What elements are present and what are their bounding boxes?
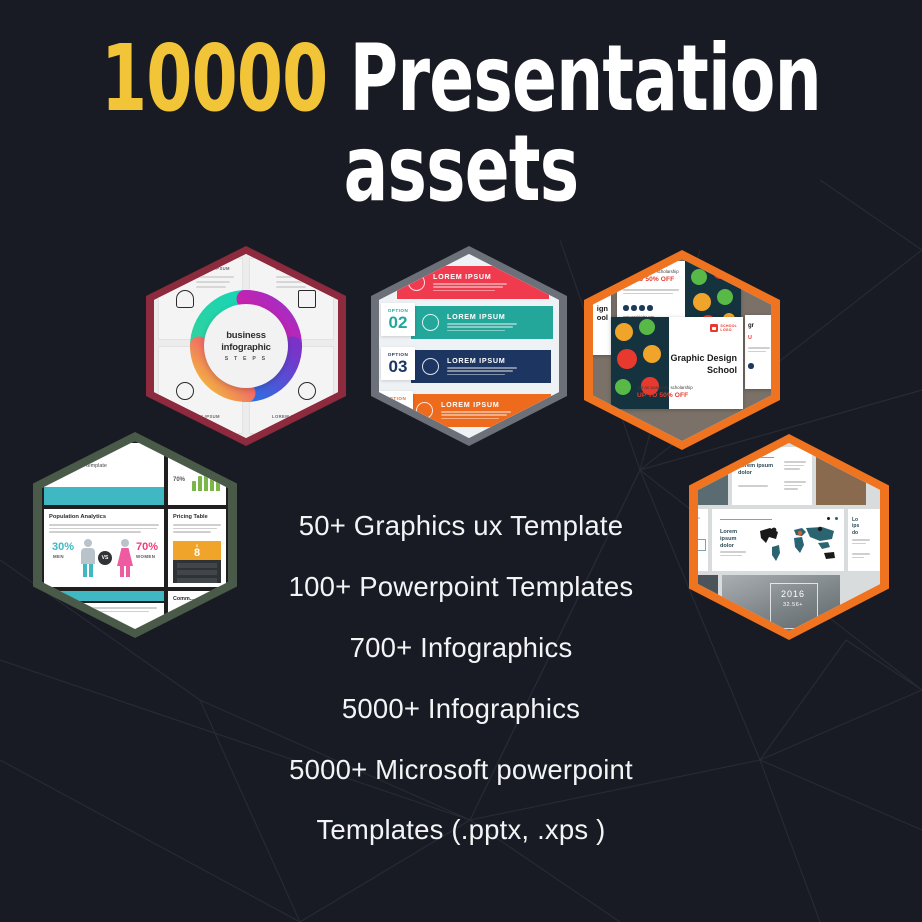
social-icon (623, 305, 629, 311)
hex2-border: LOREM IPSUM LOREM IPSUM OPTION (371, 246, 567, 446)
page-title: 10000 Presentation assets (92, 34, 830, 214)
feature-item-4: 5000+ Microsoft powerpoint (0, 756, 922, 785)
hexagon-business-infographic[interactable]: LOREM IPSUM LOREM IPSUM LOREM IPSUM LORE… (146, 246, 346, 446)
option-box-2: OPTION 02 (381, 303, 415, 336)
flyer-title-line2: School (641, 365, 737, 375)
feature-item-0: 50+ Graphics ux Template (0, 512, 922, 541)
flyer-title-line1: Graphic Design (641, 353, 737, 363)
slide-top-left-photo (698, 447, 728, 505)
hex1-artwork: LOREM IPSUM LOREM IPSUM LOREM IPSUM LORE… (154, 254, 338, 438)
hex1-content: LOREM IPSUM LOREM IPSUM LOREM IPSUM LORE… (154, 254, 338, 438)
hex1-border: LOREM IPSUM LOREM IPSUM LOREM IPSUM LORE… (146, 246, 346, 446)
cover-subtitle: ...ntation template (64, 463, 107, 469)
globe-icon (416, 402, 433, 419)
target-icon (176, 382, 194, 400)
flyer-top-scholarship: get an academic scholarship (623, 269, 679, 274)
slide-top-text: Lorem ipsumdolor (732, 447, 812, 505)
option-bar-4-heading: LOREM IPSUM (441, 400, 511, 409)
option-box-2-number: 02 (389, 314, 408, 331)
option-box-3: OPTION 03 (381, 347, 415, 380)
option-bar-1-heading: LOREM IPSUM (433, 272, 507, 281)
hex3-border: get an academic scholarship UP TO 50% OF… (584, 250, 780, 450)
social-icon (631, 305, 637, 311)
flyer-main: SCHOOL LOGO Graphic Design School get an… (611, 317, 743, 409)
magnifier-icon (298, 382, 316, 400)
social-icon (647, 305, 653, 311)
home-icon (422, 358, 439, 375)
option-bar-3-heading: LOREM IPSUM (447, 356, 517, 365)
slide-top-right-photo (816, 447, 866, 505)
hex3-artwork: get an academic scholarship UP TO 50% OF… (593, 259, 771, 441)
option-box-4: OPTION 04 (379, 391, 413, 424)
social-icon (639, 305, 645, 311)
speech-bubble-icon (298, 290, 316, 308)
hex1-label-tr: LOREM IPSUM (276, 266, 310, 271)
bars-pane-pct: 70% (173, 477, 185, 483)
donut-title-1: business (226, 330, 266, 341)
bar-chart-icon (192, 465, 222, 491)
feature-item-3: 5000+ Infographics (0, 695, 922, 724)
feature-item-5: Templates (.pptx, .xps ) (0, 816, 922, 845)
school-logo-icon (710, 324, 718, 332)
flyer-side-right: gr U (745, 315, 771, 389)
slide-title-a: Lorem ipsumdolor (738, 463, 773, 477)
school-logo-line2: LOGO (720, 328, 731, 332)
option-bar-4: LOREM IPSUM (405, 394, 551, 427)
flyer-top-offer: UP TO 50% OFF (623, 276, 674, 283)
battery-icon (422, 314, 439, 331)
hex1-label-tl: LOREM IPSUM (196, 266, 230, 271)
poster-canvas: 10000 Presentation assets (0, 0, 922, 922)
option-box-3-number: 03 (389, 358, 408, 375)
hexagon-graphic-design-school[interactable]: get an academic scholarship UP TO 50% OF… (584, 250, 780, 450)
feature-item-1: 100+ Powerpoint Templates (0, 573, 922, 602)
headline-line2: assets (92, 124, 830, 214)
hex1-label-bl: LOREM IPSUM (186, 414, 220, 419)
hex3-content: get an academic scholarship UP TO 50% OF… (593, 259, 771, 441)
cover-pane: ATE ...ntation template (44, 443, 164, 505)
person-icon (176, 290, 194, 308)
option-bar-2-heading: LOREM IPSUM (447, 312, 517, 321)
trophy-icon (408, 274, 425, 291)
option-box-4-number: 04 (387, 402, 406, 419)
flyer-main-offer: UP TO 50% OFF (637, 392, 688, 399)
hex1-label-br: LOREM IPSUM (272, 414, 306, 419)
donut-title-2: infographic (221, 342, 271, 353)
donut-steps-label: S T E P S (225, 356, 267, 362)
option-bar-3: LOREM IPSUM (411, 350, 551, 383)
cover-headline-fragment: ATE (66, 443, 102, 460)
bars-pane: 70% (168, 443, 226, 505)
hex2-content: LOREM IPSUM LOREM IPSUM OPTION (379, 254, 559, 438)
hex2-artwork: LOREM IPSUM LOREM IPSUM OPTION (379, 254, 559, 438)
feature-item-2: 700+ Infographics (0, 634, 922, 663)
hexagon-option-banners[interactable]: LOREM IPSUM LOREM IPSUM OPTION (371, 246, 567, 446)
headline-number: 10000 (101, 25, 327, 132)
flyer-main-scholarship: get an academic scholarship (637, 385, 693, 390)
option-bar-2: LOREM IPSUM (411, 306, 553, 339)
flyer-side-left: OL ignool (593, 283, 611, 355)
donut-center: business infographic S T E P S (204, 304, 288, 388)
option-bar-1: LOREM IPSUM (397, 266, 549, 299)
feature-list: 50+ Graphics ux Template 100+ Powerpoint… (0, 512, 922, 877)
